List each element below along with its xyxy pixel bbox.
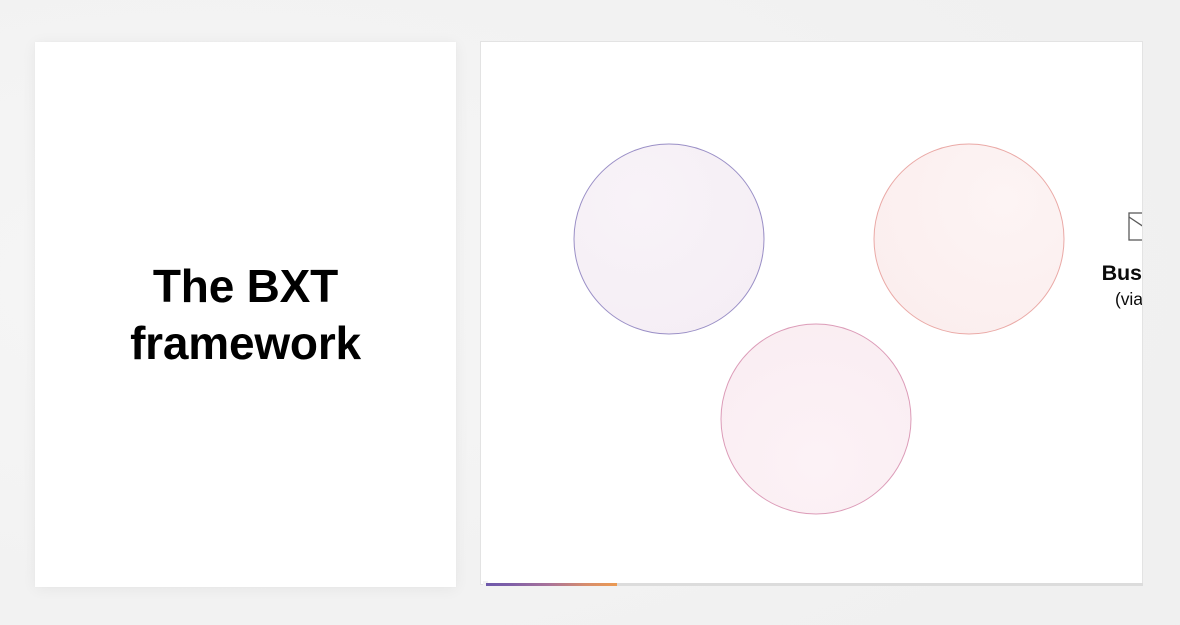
venn-fills: [574, 144, 1064, 514]
venn-label-business: Business (viability): [1049, 260, 1143, 310]
venn-svg: [481, 42, 1143, 585]
slide-canvas: The BXT framework: [0, 0, 1180, 625]
venn-label-business-subtitle: (viability): [1049, 288, 1143, 311]
title-card: The BXT framework: [35, 42, 456, 587]
venn-diagram: Business (viability) Experience (desirab…: [481, 42, 1143, 585]
venn-circle-business-fill: [574, 144, 764, 334]
briefcase-icon: [1126, 202, 1143, 249]
venn-circle-experience-fill: [874, 144, 1064, 334]
venn-circle-technology-fill: [721, 324, 911, 514]
page-title: The BXT framework: [102, 258, 389, 370]
venn-label-business-title: Business: [1049, 260, 1143, 288]
progress-bar-track[interactable]: [486, 583, 1143, 586]
progress-bar-fill: [486, 583, 617, 586]
diagram-panel: Business (viability) Experience (desirab…: [480, 41, 1143, 585]
